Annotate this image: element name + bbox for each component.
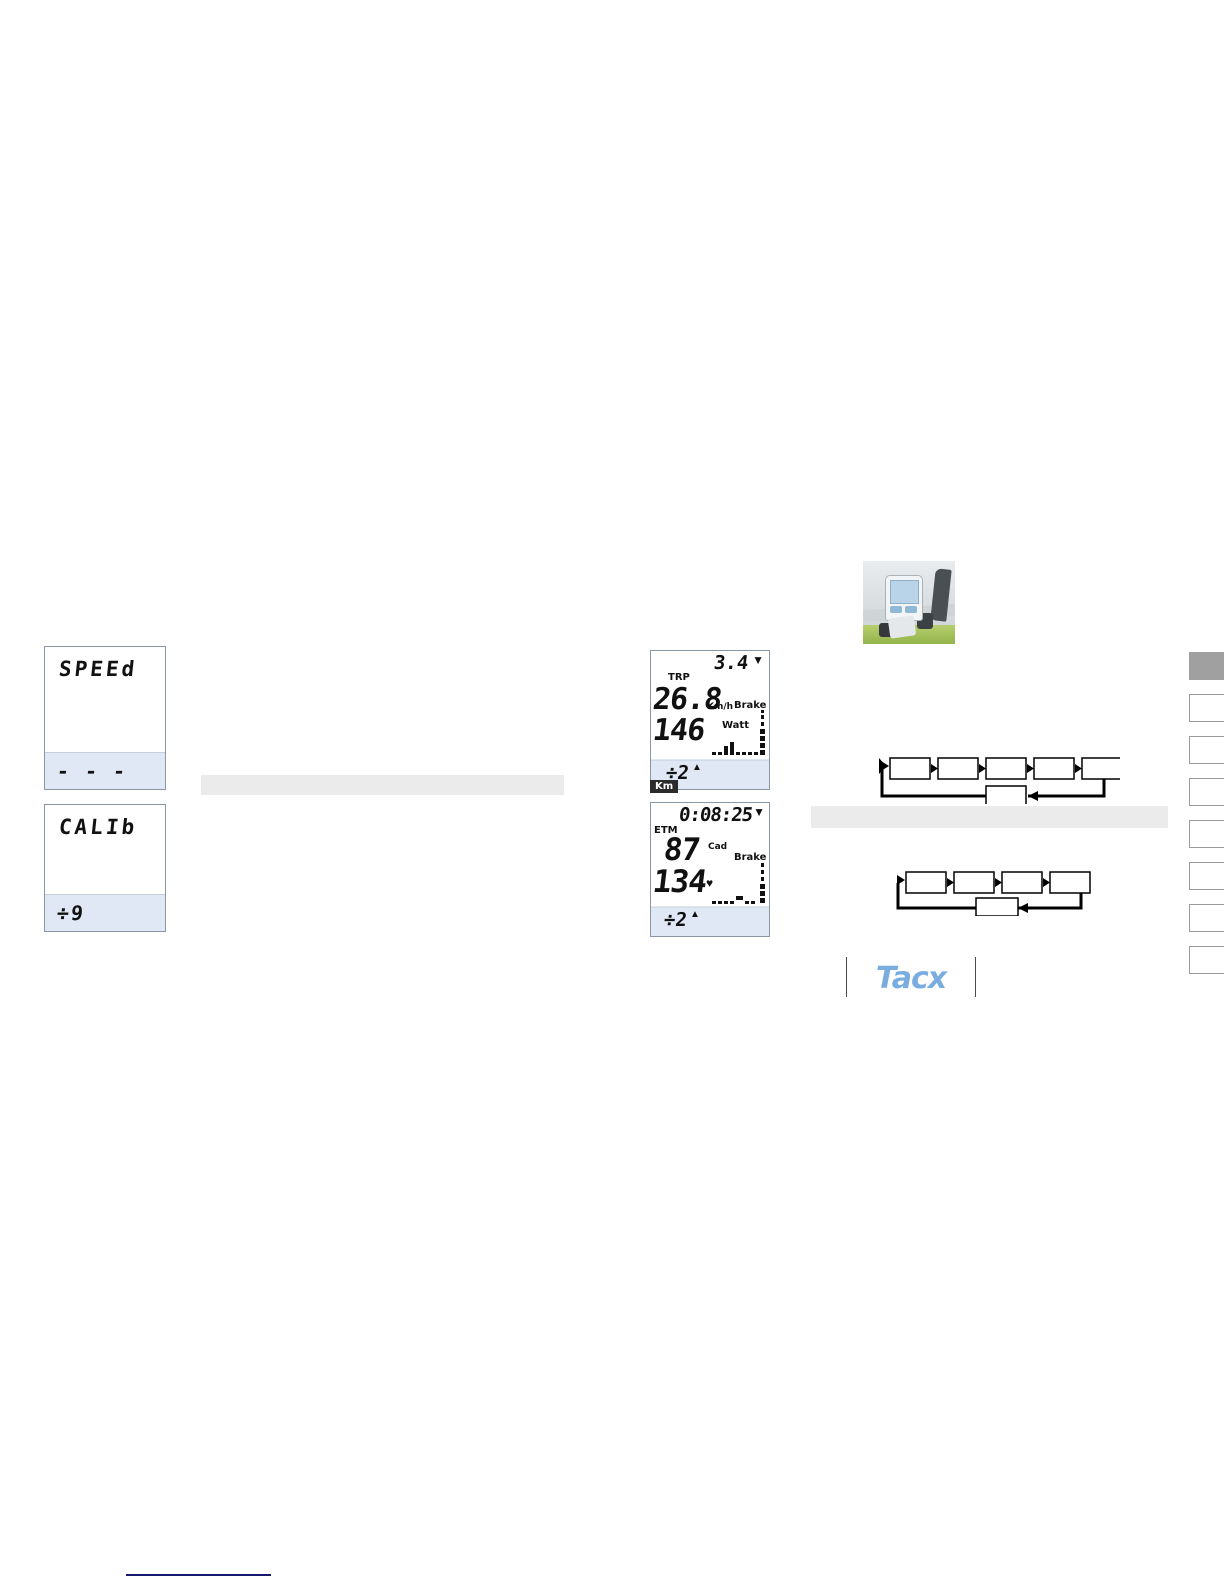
side-tab-4[interactable]: [1189, 778, 1224, 806]
brake-bar-graph-icon: [712, 710, 768, 758]
brake-bar-graph-icon: [712, 862, 768, 907]
flow-upper-return-box: [986, 786, 1026, 805]
ride-elapsed-top-value: 0:08:25: [678, 804, 754, 826]
head-unit-body: [885, 575, 923, 621]
side-tab-3[interactable]: [1189, 736, 1224, 764]
down-triangle-icon: ▼: [752, 654, 764, 666]
flow-lower-box-3: [1002, 872, 1042, 893]
ride-elapsed-cadence-unit: Cad: [708, 842, 727, 852]
flow-upper-box-2: [938, 758, 978, 779]
head-unit-button-left: [890, 606, 902, 613]
text-bar-right: [811, 806, 1168, 828]
ride-elapsed-gear-value: ÷2: [663, 909, 689, 931]
flow-upper-box-1: [890, 758, 930, 779]
side-tab-2[interactable]: [1189, 694, 1224, 722]
head-unit-mount: [888, 615, 917, 638]
flow-lower-box-2: [954, 872, 994, 893]
ride-trip-power-value: 146: [651, 713, 706, 748]
flow-upper-box-3: [986, 758, 1026, 779]
calibration-display: CALIb ÷9: [44, 804, 166, 932]
speed-display-footer: - - -: [45, 752, 165, 789]
side-tab-5[interactable]: [1189, 820, 1224, 848]
flow-lower-box-1: [906, 872, 946, 893]
speed-display-header: SPEEd: [58, 657, 139, 681]
flow-upper-box-4: [1034, 758, 1074, 779]
trainer-head-unit-photo: [863, 561, 955, 644]
flow-diagram-lower: [884, 866, 1094, 916]
side-tab-7[interactable]: [1189, 904, 1224, 932]
ride-trip-unit-badge: Km: [650, 780, 678, 793]
tacx-logo: Tacx: [846, 961, 976, 996]
ride-screen-elapsed: 0:08:25 ▼ ETM 87 Cad 134 ♥ Brake: [650, 802, 770, 937]
side-tab-6[interactable]: [1189, 862, 1224, 890]
down-triangle-icon: ▼: [753, 806, 765, 818]
flow-diagram-upper: [868, 752, 1120, 804]
flow-lower-return-box: [976, 898, 1018, 916]
ride-screen-trip: 3.4 ▼ TRP 26.8 Km/h 146 Watt Brake: [650, 650, 770, 790]
calibration-display-value: ÷9: [56, 901, 87, 925]
ride-elapsed-cadence-value: 87: [662, 832, 702, 868]
footer-rule: [126, 1574, 271, 1576]
head-unit-button-right: [905, 606, 917, 613]
side-tab-8[interactable]: [1189, 946, 1224, 974]
side-tab-1[interactable]: [1189, 652, 1224, 680]
calibration-display-header: CALIb: [58, 815, 139, 839]
up-triangle-icon: ▲: [690, 909, 700, 920]
up-triangle-icon: ▲: [692, 762, 702, 773]
ride-trip-top-value: 3.4: [712, 652, 749, 674]
brand-logo-block: Tacx: [846, 955, 976, 999]
speed-setup-display: SPEEd - - -: [44, 646, 166, 790]
ride-elapsed-heart-value: 134: [651, 864, 708, 900]
speed-display-value: - - -: [56, 759, 129, 783]
head-unit-screen: [890, 580, 919, 604]
calibration-display-footer: ÷9: [45, 894, 165, 931]
text-bar-left: [201, 775, 564, 795]
flow-upper-box-5: [1082, 758, 1122, 779]
flow-lower-box-4: [1050, 872, 1090, 893]
document-page: SPEEd - - - CALIb ÷9 3.4 ▼ TRP 26.8 Km/h…: [0, 0, 1224, 1584]
